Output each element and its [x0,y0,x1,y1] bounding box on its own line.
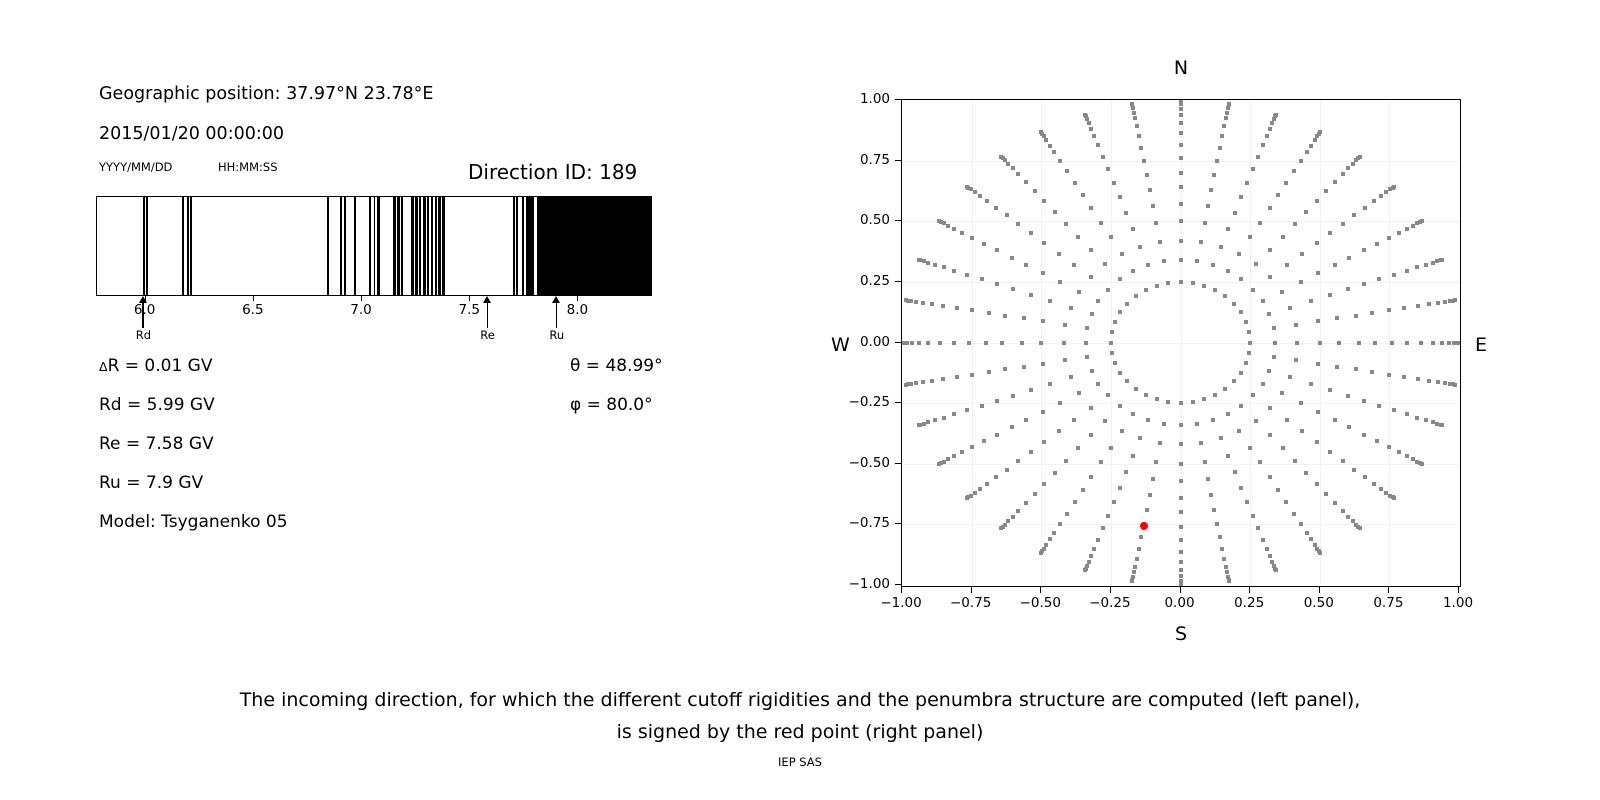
sky-map-point [1179,258,1183,262]
sky-map-point [917,258,921,262]
sky-map-point [1315,482,1319,486]
sky-map-point [1076,446,1080,450]
sky-map-point [1261,299,1265,303]
sky-map-point [995,282,999,286]
sky-map-point [978,487,982,491]
sky-map-point [1431,420,1435,424]
arrow-up-icon [552,296,560,303]
penumbra-forbidden-band [340,197,342,295]
sky-map-point [1358,155,1362,159]
sky-map-point [1132,111,1136,115]
sky-map-point [1341,459,1345,463]
sky-map-point [1392,185,1396,189]
sky-map-point [941,377,945,381]
sky-map-point [1092,547,1096,551]
sky-map-point [1024,501,1028,505]
sky-map-point [1145,173,1149,177]
caption-line-1: The incoming direction, for which the di… [0,684,1600,716]
sky-map-point [1089,248,1093,252]
sky-map-point [1245,500,1249,504]
sky-map-point [1000,341,1004,345]
penumbra-forbidden-band [182,197,184,295]
sky-map-point [1048,144,1052,148]
selected-direction-point [1140,522,1148,530]
sky-map-point [1415,265,1419,269]
sky-map-point [1292,512,1296,516]
sky-map-point [1411,224,1415,228]
sky-map-point [1162,422,1166,426]
sky-map-point [1222,124,1226,128]
sky-map-point [1247,330,1251,334]
y-axis-tick [895,523,901,524]
sky-map-point [1305,531,1309,535]
sky-map-point [999,526,1003,530]
sky-map-point [1211,263,1215,267]
sky-map-point [1267,312,1271,316]
sky-map-point [1132,570,1136,574]
sky-map-point [1256,155,1260,159]
sky-map-point [1135,557,1139,561]
sky-map-point [1309,382,1313,386]
sky-map-point [1134,294,1138,298]
sky-map-point [1300,429,1304,433]
sky-map-point [1420,462,1424,466]
sky-map-point [1148,493,1152,497]
penumbra-axis-tick [361,296,362,301]
sky-map-point [984,341,988,345]
sky-map-point [1073,181,1077,185]
x-axis-tick-label: 0.00 [1164,595,1194,611]
sky-map-point [1268,275,1272,279]
sky-map-point [1256,526,1260,530]
sky-map-point [1106,167,1110,171]
sky-map-point [1351,162,1355,166]
sky-map-point [1377,404,1381,408]
sky-map-point [1162,259,1166,263]
penumbra-forbidden-band [146,197,148,295]
sky-map-point [1133,565,1137,569]
sky-map-point [1405,227,1409,231]
sky-map-point [1039,341,1043,345]
sky-map-point [1258,221,1262,225]
sky-map-point [1179,442,1183,446]
sky-map-point [1109,235,1113,239]
x-axis-tick-label: 0.25 [1234,595,1264,611]
sky-map-point [1199,240,1203,244]
compass-label-south: S [1175,623,1187,645]
footer-credit: IEP SAS [0,755,1600,769]
penumbra-forbidden-band [442,197,445,295]
sky-map-point [1112,500,1116,504]
sky-map-point [1179,525,1183,529]
sky-map-point [1299,401,1303,405]
sky-map-point [1010,425,1014,429]
sky-map-point [1137,547,1141,551]
penumbra-plot-area [96,196,652,296]
x-axis-tick [1319,587,1320,593]
sky-map-point [1416,377,1420,381]
penumbra-rigidity-axis: 6.06.57.07.58.0RdReRu [96,296,654,342]
sky-map-point [1272,326,1276,330]
sky-map-plot-area [901,99,1461,587]
param-delta-R: ΔR = 0.01 GV [99,356,212,376]
sky-map-point [1220,134,1224,138]
sky-map-point [1362,282,1366,286]
sky-map-point [1131,454,1135,458]
sky-map-point [1042,241,1046,245]
y-axis-tick-label: −1.00 [828,576,890,592]
sky-map-point [930,379,934,383]
sky-map-point [1131,269,1135,273]
sky-map-point [1315,199,1319,203]
sky-map-point [1006,162,1010,166]
sky-map-point [1138,436,1142,440]
sky-map-point [1154,460,1158,464]
penumbra-forbidden-band [327,197,329,295]
sky-map-point [1218,535,1222,539]
penumbra-axis-tick [577,296,578,301]
sky-map-point [1016,172,1020,176]
sky-map-point [1003,367,1007,371]
penumbra-forbidden-band [369,197,371,295]
sky-map-point [1387,373,1391,377]
sky-map-point [952,227,956,231]
sky-map-point [1372,199,1376,203]
sky-map-point [1453,298,1457,302]
sky-map-point [1124,470,1128,474]
sky-map-point [1179,107,1183,111]
sky-map-point [1284,500,1288,504]
sky-map-point [1268,475,1272,479]
sky-map-point [1053,471,1057,475]
penumbra-forbidden-band [377,197,379,295]
sky-map-point [1265,547,1269,551]
sky-map-point [1316,271,1320,275]
sky-map-point [1453,383,1457,387]
sky-map-point [1087,121,1091,125]
sky-map-point [1057,429,1061,433]
sky-map-point [1402,306,1406,310]
penumbra-forbidden-band [431,197,433,295]
sky-map-point [1352,213,1356,217]
sky-map-point [1341,172,1345,176]
penumbra-forbidden-band [397,197,399,295]
sky-map-point [1024,418,1028,422]
sky-map-point [930,302,934,306]
x-axis-tick [1180,587,1181,593]
penumbra-axis-tick-label: 8.0 [567,302,588,318]
sky-map-point [1363,206,1367,210]
sky-map-point [1179,121,1183,125]
param-delta-R-text: R = 0.01 GV [108,356,213,376]
sky-map-point [1179,462,1183,466]
y-axis-tick [895,584,901,585]
sky-map-point [1280,290,1284,294]
sky-map-point [1427,379,1431,383]
sky-map-point [1144,288,1148,292]
sky-map-point [1346,515,1350,519]
x-axis-tick [971,587,972,593]
sky-map-point [1248,446,1252,450]
sky-map-point [1390,341,1394,345]
sky-map-point [1335,316,1339,320]
sky-map-point [995,399,999,403]
sky-map-point [1424,418,1428,422]
sky-map-point [1179,99,1183,102]
geographic-position-text: Geographic position: 37.97°N 23.78°E [99,84,434,104]
sky-map-point [1179,538,1183,542]
sky-map-point [1110,330,1114,334]
sky-map-point [1158,240,1162,244]
sky-map-point [1138,245,1142,249]
sky-map-point [1254,262,1258,266]
sky-map-point [1354,314,1358,318]
sky-map-point [1042,482,1046,486]
sky-map-point [1011,394,1015,398]
sky-map-point [1110,351,1114,355]
sky-map-point [1294,358,1298,362]
sky-map-point [1377,277,1381,281]
sky-map-point [1294,323,1298,327]
sky-map-point [1179,239,1183,243]
x-axis-tick [901,587,902,593]
sky-map-point [1405,412,1409,416]
sky-map-point [1313,138,1317,142]
x-axis-tick [1040,587,1041,593]
sky-map-point [1315,241,1319,245]
sky-map-point [1328,450,1332,454]
sky-map-point [1064,222,1068,226]
sky-map-point [965,185,969,189]
sky-map-point [933,263,937,267]
sky-map-point [1387,236,1391,240]
caption-line-2: is signed by the red point (right panel) [0,716,1600,748]
penumbra-forbidden-band [344,197,346,295]
sky-map-point [994,475,998,479]
sky-map-point [1191,400,1195,404]
sky-map-point [1096,538,1100,542]
sky-map-point [1011,287,1015,291]
sky-map-point [1318,130,1322,134]
sky-map-point [955,375,959,379]
sky-map-point [1011,515,1015,519]
penumbra-forbidden-band [374,197,376,295]
x-axis-tick-label: −0.75 [950,595,991,611]
sky-map-point [1081,193,1085,197]
x-axis-tick-label: 0.50 [1304,595,1334,611]
penumbra-forbidden-band [513,197,515,295]
sky-map-point [1300,252,1304,256]
sky-map-point [1346,166,1350,170]
time-format-hint: HH:MM:SS [218,160,278,174]
sky-map-point [937,462,941,466]
sky-map-point [1347,256,1351,260]
sky-map-point [1029,450,1033,454]
sky-map-point [1415,416,1419,420]
sky-map-point [1299,280,1303,284]
sky-map-point [1218,146,1222,150]
arrow-shaft [487,302,488,328]
sky-map-point [1158,441,1162,445]
sky-map-point [1101,155,1105,159]
direction-id-label: Direction ID: 189 [468,160,637,184]
sky-map-point [1148,188,1152,192]
sky-map-point [1276,488,1280,492]
sky-map-point [1085,326,1089,330]
right-panel: N S W E −1.00−0.75−0.50−0.250.000.250.50… [820,0,1600,660]
penumbra-forbidden-band [427,197,429,295]
sky-map-point [1016,459,1020,463]
sky-map-point [1029,293,1033,297]
sky-map-point [1155,397,1159,401]
sky-map-point [1397,231,1401,235]
sky-map-point [1316,410,1320,414]
sky-map-point [1089,433,1093,437]
sky-map-point [1226,269,1230,273]
penumbra-forbidden-band [526,197,534,295]
sky-map-point [965,496,969,500]
sky-map-point [955,306,959,310]
sky-map-point [1064,459,1068,463]
sky-map-point [1033,189,1037,193]
sky-map-point [1220,547,1224,551]
sky-map-point [1237,429,1241,433]
sky-map-point [1099,221,1103,225]
y-axis-tick-label: 0.75 [828,152,890,168]
sky-map-point [1058,280,1062,284]
sky-map-point [952,341,956,345]
sky-map-point [1179,131,1183,135]
sky-map-point [1124,211,1128,215]
sky-map-point [973,491,977,495]
sky-map-point [1166,400,1170,404]
sky-map-point [1112,181,1116,185]
sky-map-point [1261,538,1265,542]
sky-map-point [1373,341,1377,345]
x-axis-tick-label: −0.25 [1089,595,1130,611]
y-axis-tick [895,342,901,343]
compass-label-north: N [1174,57,1188,79]
sky-map-point [1233,211,1237,215]
sky-map-point [1324,189,1328,193]
sky-map-point [1211,418,1215,422]
sky-map-point [1284,181,1288,185]
sky-map-point [1254,419,1258,423]
sky-map-point [1142,159,1146,163]
arrow-up-icon [483,296,491,303]
x-axis-tick [1110,587,1111,593]
sky-map-point [937,219,941,223]
sky-map-point [1179,568,1183,572]
penumbra-forbidden-band [556,197,651,295]
sky-map-point [1226,454,1230,458]
sky-map-point [1022,316,1026,320]
sky-map-point [1118,310,1122,314]
penumbra-forbidden-band [438,197,440,295]
sky-map-point [1077,290,1081,294]
sky-map-point [1003,314,1007,318]
sky-map-point [1443,381,1447,385]
sky-map-point [1346,394,1350,398]
sky-map-point [1109,446,1113,450]
sky-map-point [970,308,974,312]
sky-map-point [1063,323,1067,327]
sky-map-point [980,404,984,408]
penumbra-forbidden-band [537,197,556,295]
sky-map-point [1151,204,1155,208]
sky-map-point [1239,310,1243,314]
y-axis-tick-label: 0.50 [828,212,890,228]
sky-map-point [1288,306,1292,310]
sky-map-point [1357,341,1361,345]
sky-map-point [1010,256,1014,260]
sky-map-point [1318,551,1322,555]
sky-map-point [1363,475,1367,479]
sky-map-point [1362,399,1366,403]
sky-map-point [952,269,956,273]
sky-map-point [1092,134,1096,138]
sky-map-point [982,242,986,246]
sky-map-point [970,445,974,449]
sky-map-point [1305,150,1309,154]
sky-map-point [970,236,974,240]
sky-map-point [1272,355,1276,359]
y-axis-tick [895,463,901,464]
sky-map-point [1225,111,1229,115]
sky-map-point [1281,235,1285,239]
sky-map-point [1431,261,1435,265]
sky-map-point [1069,375,1073,379]
sky-map-point [1057,252,1061,256]
sky-map-point [985,199,989,203]
sky-map-point [970,373,974,377]
penumbra-marker-label: Re [480,328,495,342]
sky-map-point [1106,514,1110,518]
sky-map-point [946,224,950,228]
sky-map-point [926,341,930,345]
sky-map-point [1424,263,1428,267]
sky-map-point [1083,568,1087,572]
sky-map-point [1316,319,1320,323]
sky-map-point [1179,510,1183,514]
y-axis-tick-label: 1.00 [828,91,890,107]
sky-map-point [1090,312,1094,316]
sky-map-point [1072,263,1076,267]
sky-map-point [1084,341,1088,345]
sky-map-point [1226,227,1230,231]
sky-map-point [1447,341,1451,345]
sky-map-point [1203,221,1207,225]
param-Ru: Ru = 7.9 GV [99,473,203,493]
sky-map-point [960,231,964,235]
sky-map-point [1089,275,1093,279]
x-axis-tick [1458,587,1459,593]
sky-map-point [1346,287,1350,291]
sky-map-point [1416,304,1420,308]
sky-map-point [1155,284,1159,288]
penumbra-chart [96,196,652,296]
sky-map-point [1029,388,1033,392]
sky-map-point [1179,113,1183,117]
sky-map-point [1089,406,1093,410]
arrow-shaft [556,302,557,328]
penumbra-axis-tick [253,296,254,301]
sky-map-point [1063,358,1067,362]
sky-map-point [1232,379,1236,383]
sky-map-point [1239,486,1243,490]
sky-map-point [1337,341,1341,345]
sky-map-point [1258,460,1262,464]
